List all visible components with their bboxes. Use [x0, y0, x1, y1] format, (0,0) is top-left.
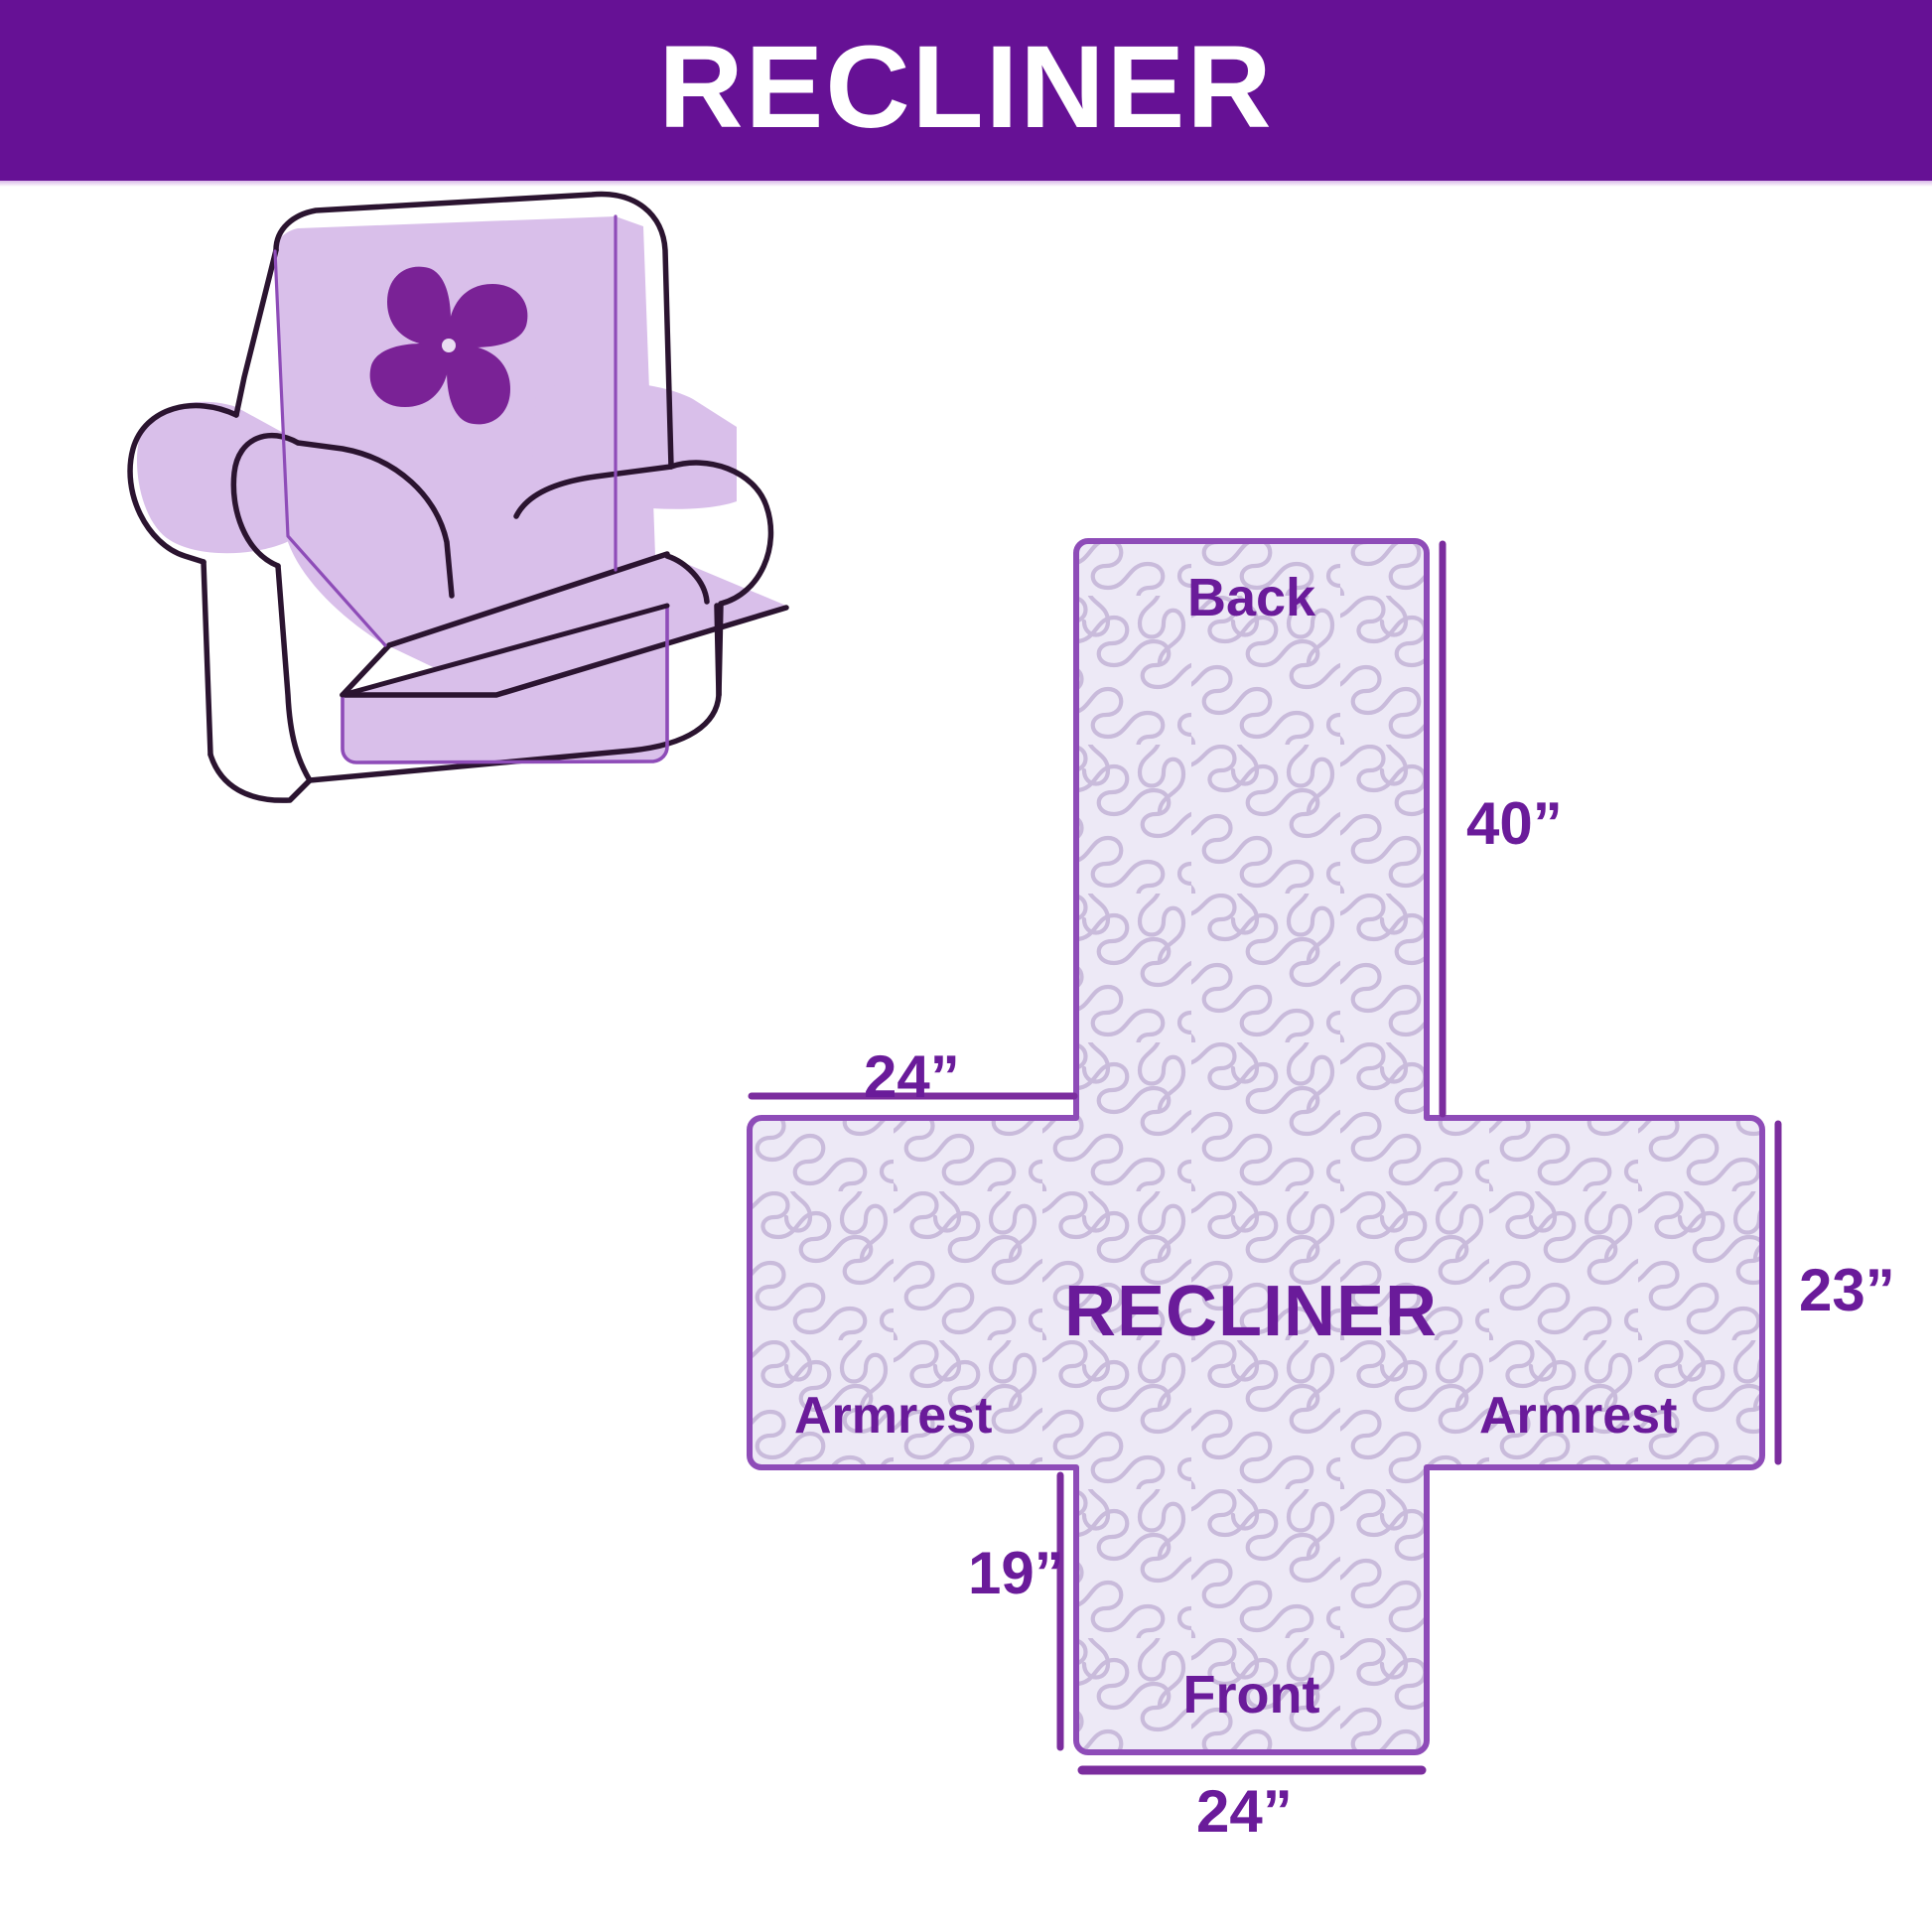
section-label-back: Back [1076, 571, 1427, 624]
dimension-label-seat-depth: 23” [1799, 1261, 1895, 1320]
section-label-armrest-right: Armrest [1479, 1390, 1677, 1442]
dimension-label-back-height: 40” [1466, 794, 1563, 854]
pattern-center-label: RECLINER [993, 1276, 1509, 1347]
dimension-label-armrest-width: 24” [864, 1047, 960, 1107]
recliner-chair-illustration [0, 0, 1932, 1932]
dimension-label-front-height: 19” [968, 1544, 1064, 1603]
cover-pattern-shape [750, 541, 1762, 1752]
section-label-front: Front [1076, 1668, 1427, 1722]
diagram-stage: Back RECLINER Armrest Armrest Front 40” … [0, 0, 1932, 1932]
dimension-label-front-width: 24” [1196, 1782, 1293, 1842]
section-label-armrest-left: Armrest [794, 1390, 992, 1442]
